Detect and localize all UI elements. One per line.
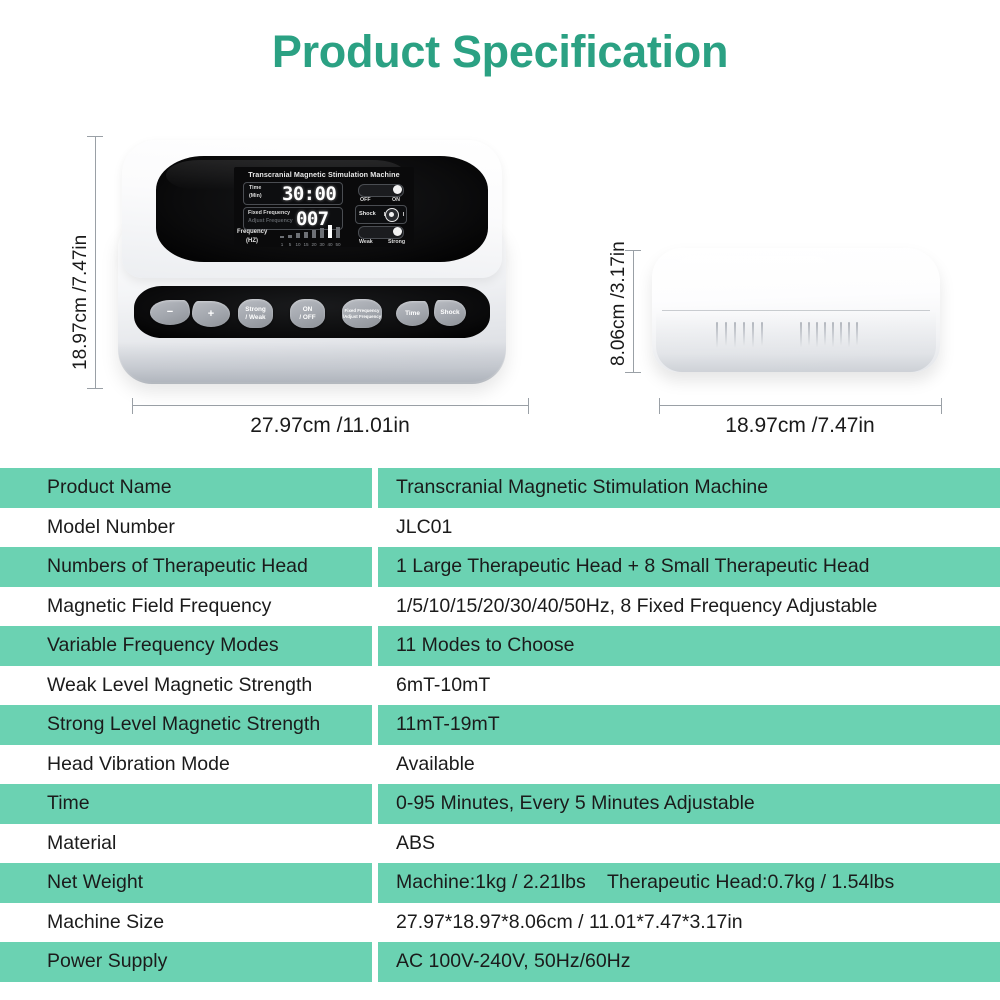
- intensity-toggle-knob: [393, 227, 402, 236]
- main-width-label: 27.97cm /11.01in: [132, 414, 528, 438]
- spec-row-value: 11mT-19mT: [378, 705, 1000, 745]
- spec-row-value: AC 100V-240V, 50Hz/60Hz: [378, 942, 1000, 982]
- spec-row-value: 27.97*18.97*8.06cm / 11.01*7.47*3.17in: [378, 903, 1000, 943]
- side-width-dimension-line: [659, 405, 941, 406]
- frequency-tick-label: 40: [326, 242, 334, 247]
- main-height-dimension-line: [95, 136, 96, 388]
- page-title: Product Specification: [0, 26, 1000, 78]
- device-button-plus[interactable]: +: [192, 301, 230, 327]
- spec-row-value: 0-95 Minutes, Every 5 Minutes Adjustable: [378, 784, 1000, 824]
- main-height-cap-top: [87, 136, 103, 137]
- device-button-time[interactable]: Time: [396, 301, 429, 326]
- spec-row-label: Numbers of Therapeutic Head: [0, 547, 372, 587]
- spec-table-row: Numbers of Therapeutic Head1 Large Thera…: [0, 547, 1000, 587]
- frequency-bar: [304, 232, 308, 238]
- side-width-label: 18.97cm /7.47in: [659, 414, 941, 438]
- frequency-tick-label: 10: [294, 242, 302, 247]
- device-side-lower-shade: [656, 311, 936, 372]
- frequency-bar: [336, 227, 340, 238]
- spec-row-label: Machine Size: [0, 903, 372, 943]
- side-height-dimension-line: [633, 250, 634, 372]
- main-height-cap-bottom: [87, 388, 103, 389]
- device-button-on-off[interactable]: ON / OFF: [290, 299, 325, 328]
- device-side-view: [652, 248, 940, 372]
- vent-slot: [808, 322, 810, 346]
- spec-row-value: Available: [378, 745, 1000, 785]
- frequency-bar: [280, 236, 284, 238]
- spec-table-row: Head Vibration ModeAvailable: [0, 745, 1000, 785]
- spec-row-label: Strong Level Magnetic Strength: [0, 705, 372, 745]
- spec-row-value: 11 Modes to Choose: [378, 626, 1000, 666]
- vent-slot: [848, 322, 850, 348]
- spec-row-value: Transcranial Magnetic Stimulation Machin…: [378, 468, 1000, 508]
- frequency-bar-scale: 15101520304050: [280, 227, 346, 247]
- vent-slot: [752, 322, 754, 348]
- spec-row-value: 1 Large Therapeutic Head + 8 Small Thera…: [378, 547, 1000, 587]
- frequency-scale-label: Frequency: [237, 229, 267, 235]
- spec-table-row: Product NameTranscranial Magnetic Stimul…: [0, 468, 1000, 508]
- lcd-time-unit-label: (Min): [249, 193, 262, 199]
- shock-dial-icon[interactable]: [385, 208, 399, 222]
- frequency-bar: [288, 235, 292, 238]
- spec-table-row: Magnetic Field Frequency1/5/10/15/20/30/…: [0, 587, 1000, 627]
- frequency-tick-label: 50: [334, 242, 342, 247]
- intensity-toggle-switch[interactable]: [358, 226, 404, 239]
- product-specification-page: Product Specification 18.97cm /7.47in 27…: [0, 0, 1000, 1000]
- shock-ray-right: [403, 212, 404, 216]
- toggle-off-label: OFF: [360, 197, 371, 203]
- frequency-bar: [328, 225, 332, 238]
- lcd-time-value: 30:00: [282, 183, 336, 205]
- power-toggle-switch[interactable]: [358, 184, 404, 197]
- spec-row-label: Model Number: [0, 508, 372, 548]
- main-width-dimension-line: [132, 405, 528, 406]
- spec-row-value: Machine:1kg / 2.21lbs Therapeutic Head:0…: [378, 863, 1000, 903]
- device-button-shock[interactable]: Shock: [434, 300, 466, 326]
- vent-slot: [800, 322, 802, 348]
- spec-row-label: Time: [0, 784, 372, 824]
- frequency-tick-label: 5: [286, 242, 294, 247]
- frequency-bar: [312, 230, 316, 238]
- lcd-panel: Transcranial Magnetic Stimulation Machin…: [234, 167, 414, 247]
- spec-table-row: Weak Level Magnetic Strength6mT-10mT: [0, 666, 1000, 706]
- spec-table-row: Strong Level Magnetic Strength11mT-19mT: [0, 705, 1000, 745]
- spec-table-row: Variable Frequency Modes11 Modes to Choo…: [0, 626, 1000, 666]
- device-front-view: Transcranial Magnetic Stimulation Machin…: [112, 134, 512, 389]
- spec-table-row: Model NumberJLC01: [0, 508, 1000, 548]
- device-button-strong-weak[interactable]: Strong / Weak: [238, 299, 273, 328]
- spec-row-value: JLC01: [378, 508, 1000, 548]
- spec-row-label: Variable Frequency Modes: [0, 626, 372, 666]
- shock-control-box[interactable]: Shock: [355, 205, 407, 224]
- spec-row-label: Magnetic Field Frequency: [0, 587, 372, 627]
- lcd-fixed-frequency-label: Fixed Frequency: [248, 210, 290, 216]
- power-toggle-knob: [393, 185, 402, 194]
- spec-row-label: Power Supply: [0, 942, 372, 982]
- frequency-tick-label: 30: [318, 242, 326, 247]
- spec-table-row: Net WeightMachine:1kg / 2.21lbs Therapeu…: [0, 863, 1000, 903]
- spec-row-value: 1/5/10/15/20/30/40/50Hz, 8 Fixed Frequen…: [378, 587, 1000, 627]
- side-height-cap-bottom: [625, 372, 641, 373]
- spec-row-label: Material: [0, 824, 372, 864]
- device-base-shadow: [118, 342, 506, 384]
- spec-table-row: Machine Size27.97*18.97*8.06cm / 11.01*7…: [0, 903, 1000, 943]
- device-side-gloss: [678, 256, 828, 276]
- toggle-strong-label: Strong: [388, 239, 405, 245]
- main-height-label: 18.97cm /7.47in: [70, 235, 92, 370]
- frequency-tick-label: 1: [278, 242, 286, 247]
- spec-row-label: Net Weight: [0, 863, 372, 903]
- lcd-time-label: Time: [249, 185, 261, 191]
- vent-slot: [761, 322, 763, 346]
- spec-table-row: Power SupplyAC 100V-240V, 50Hz/60Hz: [0, 942, 1000, 982]
- spec-row-value: 6mT-10mT: [378, 666, 1000, 706]
- shock-label: Shock: [359, 211, 376, 217]
- lcd-adjust-frequency-label: Adjust Frequency: [248, 218, 293, 224]
- vent-slot: [743, 322, 745, 346]
- main-width-cap-left: [132, 398, 133, 414]
- spec-table-row: Time0-95 Minutes, Every 5 Minutes Adjust…: [0, 784, 1000, 824]
- vent-slot: [816, 322, 818, 348]
- vent-slot: [832, 322, 834, 348]
- toggle-on-label: ON: [392, 197, 400, 203]
- frequency-tick-label: 20: [310, 242, 318, 247]
- toggle-weak-label: Weak: [359, 239, 373, 245]
- main-width-cap-right: [528, 398, 529, 414]
- vent-slot: [856, 322, 858, 346]
- vent-slot: [824, 322, 826, 346]
- device-top-shell: Transcranial Magnetic Stimulation Machin…: [122, 140, 502, 278]
- spec-row-label: Weak Level Magnetic Strength: [0, 666, 372, 706]
- spec-table-row: MaterialABS: [0, 824, 1000, 864]
- spec-row-label: Head Vibration Mode: [0, 745, 372, 785]
- vent-slot: [734, 322, 736, 348]
- device-button-fixed-adjust-frequency[interactable]: Fixed Frequency /Adjust Frequency: [342, 299, 382, 328]
- device-side-seam: [662, 310, 930, 311]
- side-height-label: 8.06cm /3.17in: [608, 241, 630, 366]
- frequency-bar: [296, 233, 300, 238]
- vent-slot: [840, 322, 842, 346]
- vent-slot: [725, 322, 727, 346]
- frequency-scale-unit: (HZ): [246, 238, 258, 244]
- vent-slot: [716, 322, 718, 348]
- device-button-minus[interactable]: −: [150, 300, 190, 325]
- specification-table: Product NameTranscranial Magnetic Stimul…: [0, 468, 1000, 982]
- spec-row-value: ABS: [378, 824, 1000, 864]
- side-width-cap-left: [659, 398, 660, 414]
- frequency-tick-label: 15: [302, 242, 310, 247]
- side-width-cap-right: [941, 398, 942, 414]
- lcd-header-text: Transcranial Magnetic Stimulation Machin…: [234, 170, 414, 179]
- frequency-bar: [320, 228, 324, 238]
- spec-row-label: Product Name: [0, 468, 372, 508]
